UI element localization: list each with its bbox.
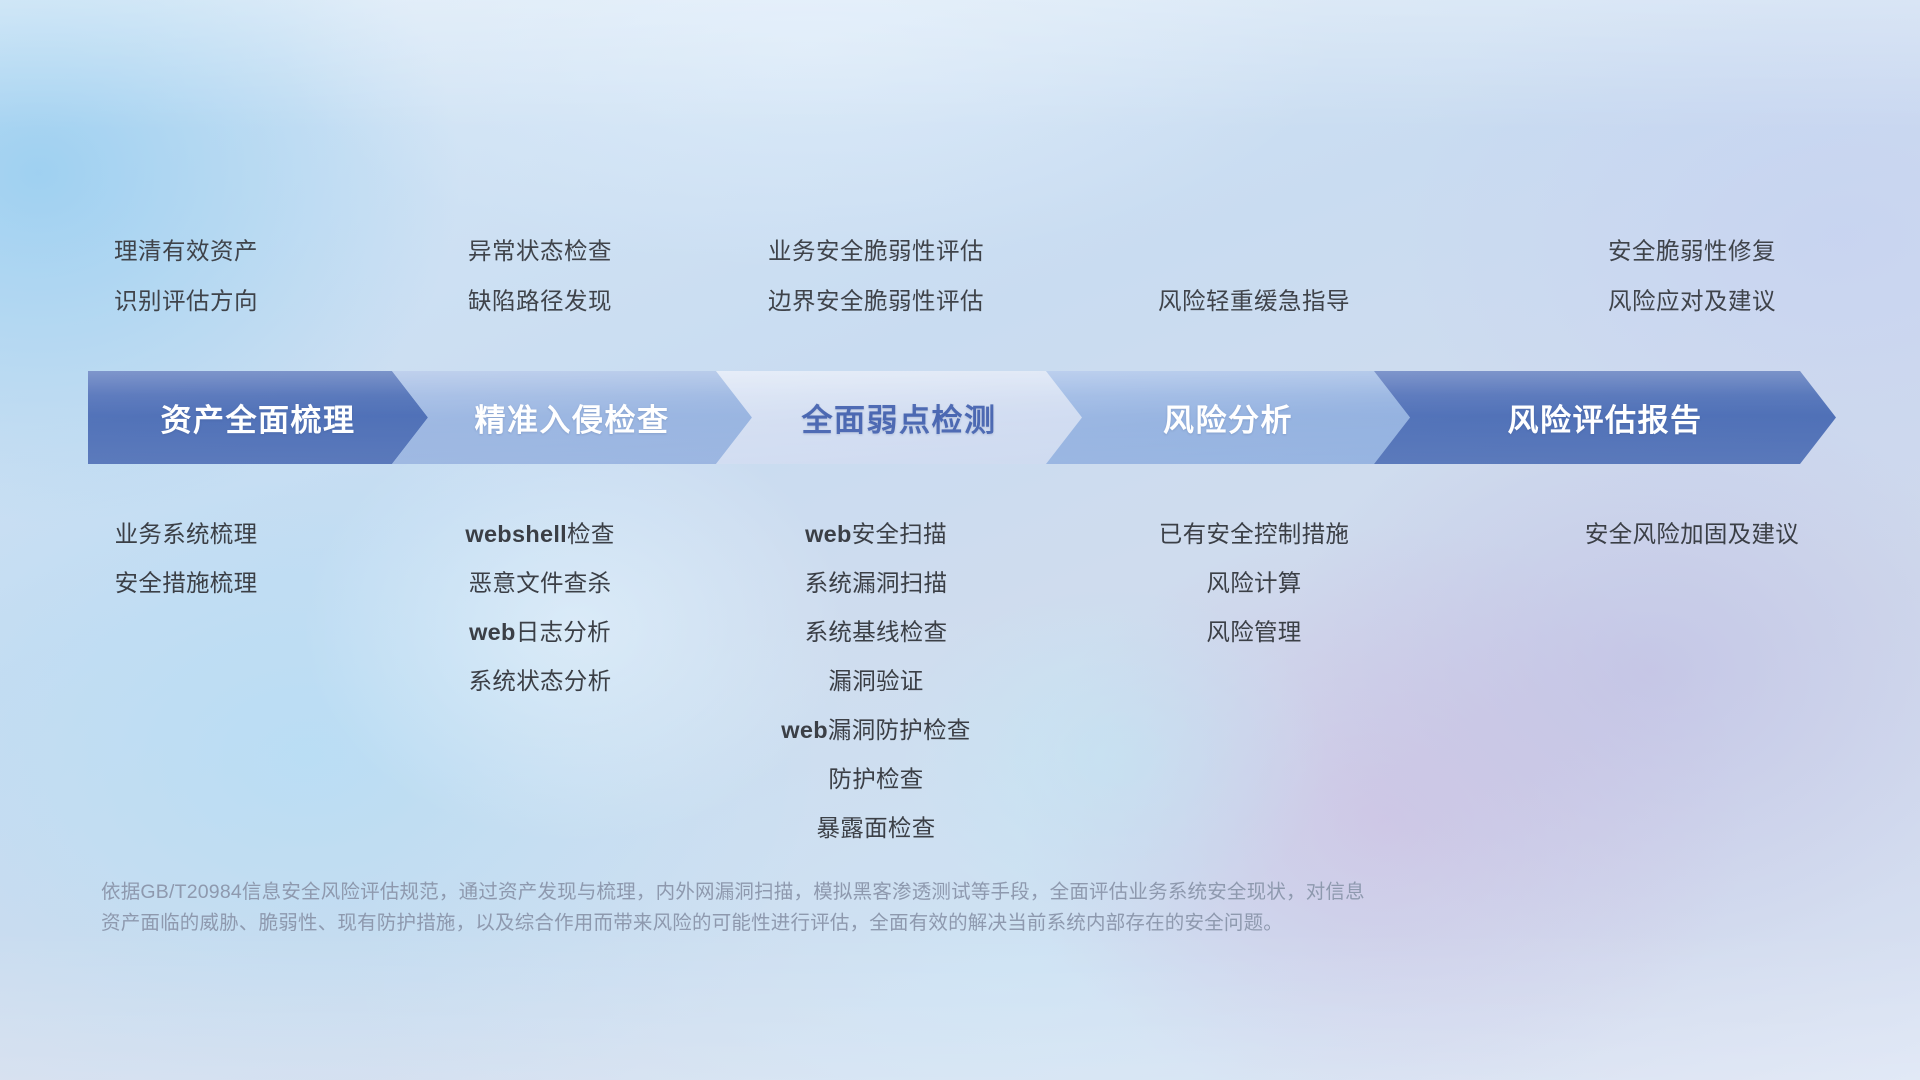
- step-inputs-row: 理清有效资产 识别评估方向 异常状态检查 缺陷路径发现 业务安全脆弱性评估 边界…: [0, 226, 1920, 326]
- step-3-output-5: web漏洞防护检查: [708, 706, 1044, 755]
- step-3-output-4: 漏洞验证: [708, 657, 1044, 706]
- step-2-output-1: webshell检查: [372, 510, 708, 559]
- step-1-outputs: 业务系统梳理 安全措施梳理: [0, 510, 372, 608]
- step-1-inputs: 理清有效资产 识别评估方向: [0, 226, 372, 326]
- step-2-outputs: webshell检查 恶意文件查杀 web日志分析 系统状态分析: [372, 510, 708, 706]
- step-3-input-2: 边界安全脆弱性评估: [708, 276, 1044, 326]
- step-5-input-2: 风险应对及建议: [1464, 276, 1920, 326]
- step-2-input-1: 异常状态检查: [372, 226, 708, 276]
- step-3-output-7: 暴露面检查: [708, 804, 1044, 853]
- process-step-risk-analysis[interactable]: 风险分析: [1046, 371, 1410, 464]
- step-5-output-1: 安全风险加固及建议: [1464, 510, 1920, 559]
- process-step-2-label: 精准入侵检查: [475, 395, 670, 440]
- process-step-3-label: 全面弱点检测: [802, 395, 997, 440]
- step-4-outputs: 已有安全控制措施 风险计算 风险管理: [1044, 510, 1464, 657]
- slide-canvas: 理清有效资产 识别评估方向 异常状态检查 缺陷路径发现 业务安全脆弱性评估 边界…: [0, 0, 1920, 1080]
- process-step-4-label: 风险分析: [1163, 395, 1293, 440]
- footer-line-1: 依据GB/T20984信息安全风险评估规范，通过资产发现与梳理，内外网漏洞扫描，…: [101, 877, 1631, 908]
- process-step-weakness-detection[interactable]: 全面弱点检测: [716, 371, 1082, 464]
- step-1-input-1: 理清有效资产: [0, 226, 372, 276]
- step-3-input-1: 业务安全脆弱性评估: [708, 226, 1044, 276]
- step-4-output-2: 风险计算: [1044, 559, 1464, 608]
- step-3-inputs: 业务安全脆弱性评估 边界安全脆弱性评估: [708, 226, 1044, 326]
- step-1-input-2: 识别评估方向: [0, 276, 372, 326]
- footer-line-2: 资产面临的威胁、脆弱性、现有防护措施，以及综合作用而带来风险的可能性进行评估，全…: [101, 908, 1631, 939]
- process-step-risk-report[interactable]: 风险评估报告: [1374, 371, 1836, 464]
- step-3-output-6: 防护检查: [708, 755, 1044, 804]
- step-3-output-1: web安全扫描: [708, 510, 1044, 559]
- process-chevron-band: 资产全面梳理 精准入侵检查 全面弱点检测 风险分析 风险评估报告: [88, 371, 1836, 464]
- step-4-inputs: 风险轻重缓急指导: [1044, 226, 1464, 326]
- step-4-output-3: 风险管理: [1044, 608, 1464, 657]
- step-2-inputs: 异常状态检查 缺陷路径发现: [372, 226, 708, 326]
- step-5-inputs: 安全脆弱性修复 风险应对及建议: [1464, 226, 1920, 326]
- step-2-output-3: web日志分析: [372, 608, 708, 657]
- step-1-output-1: 业务系统梳理: [0, 510, 372, 559]
- step-outputs-row: 业务系统梳理 安全措施梳理 webshell检查 恶意文件查杀 web日志分析 …: [0, 510, 1920, 853]
- step-4-output-1: 已有安全控制措施: [1044, 510, 1464, 559]
- step-3-output-2: 系统漏洞扫描: [708, 559, 1044, 608]
- step-5-input-1: 安全脆弱性修复: [1464, 226, 1920, 276]
- process-step-asset-inventory[interactable]: 资产全面梳理: [88, 371, 428, 464]
- process-step-intrusion-check[interactable]: 精准入侵检查: [392, 371, 752, 464]
- step-4-inputs-spacer: [1044, 226, 1464, 276]
- step-5-outputs: 安全风险加固及建议: [1464, 510, 1920, 559]
- step-2-output-2: 恶意文件查杀: [372, 559, 708, 608]
- process-step-5-label: 风险评估报告: [1508, 395, 1703, 440]
- step-1-output-2: 安全措施梳理: [0, 559, 372, 608]
- step-2-input-2: 缺陷路径发现: [372, 276, 708, 326]
- process-step-1-label: 资产全面梳理: [161, 395, 356, 440]
- step-4-input-1: 风险轻重缓急指导: [1044, 276, 1464, 326]
- step-3-output-3: 系统基线检查: [708, 608, 1044, 657]
- footer-description: 依据GB/T20984信息安全风险评估规范，通过资产发现与梳理，内外网漏洞扫描，…: [101, 877, 1631, 939]
- step-2-output-4: 系统状态分析: [372, 657, 708, 706]
- step-3-outputs: web安全扫描 系统漏洞扫描 系统基线检查 漏洞验证 web漏洞防护检查 防护检…: [708, 510, 1044, 853]
